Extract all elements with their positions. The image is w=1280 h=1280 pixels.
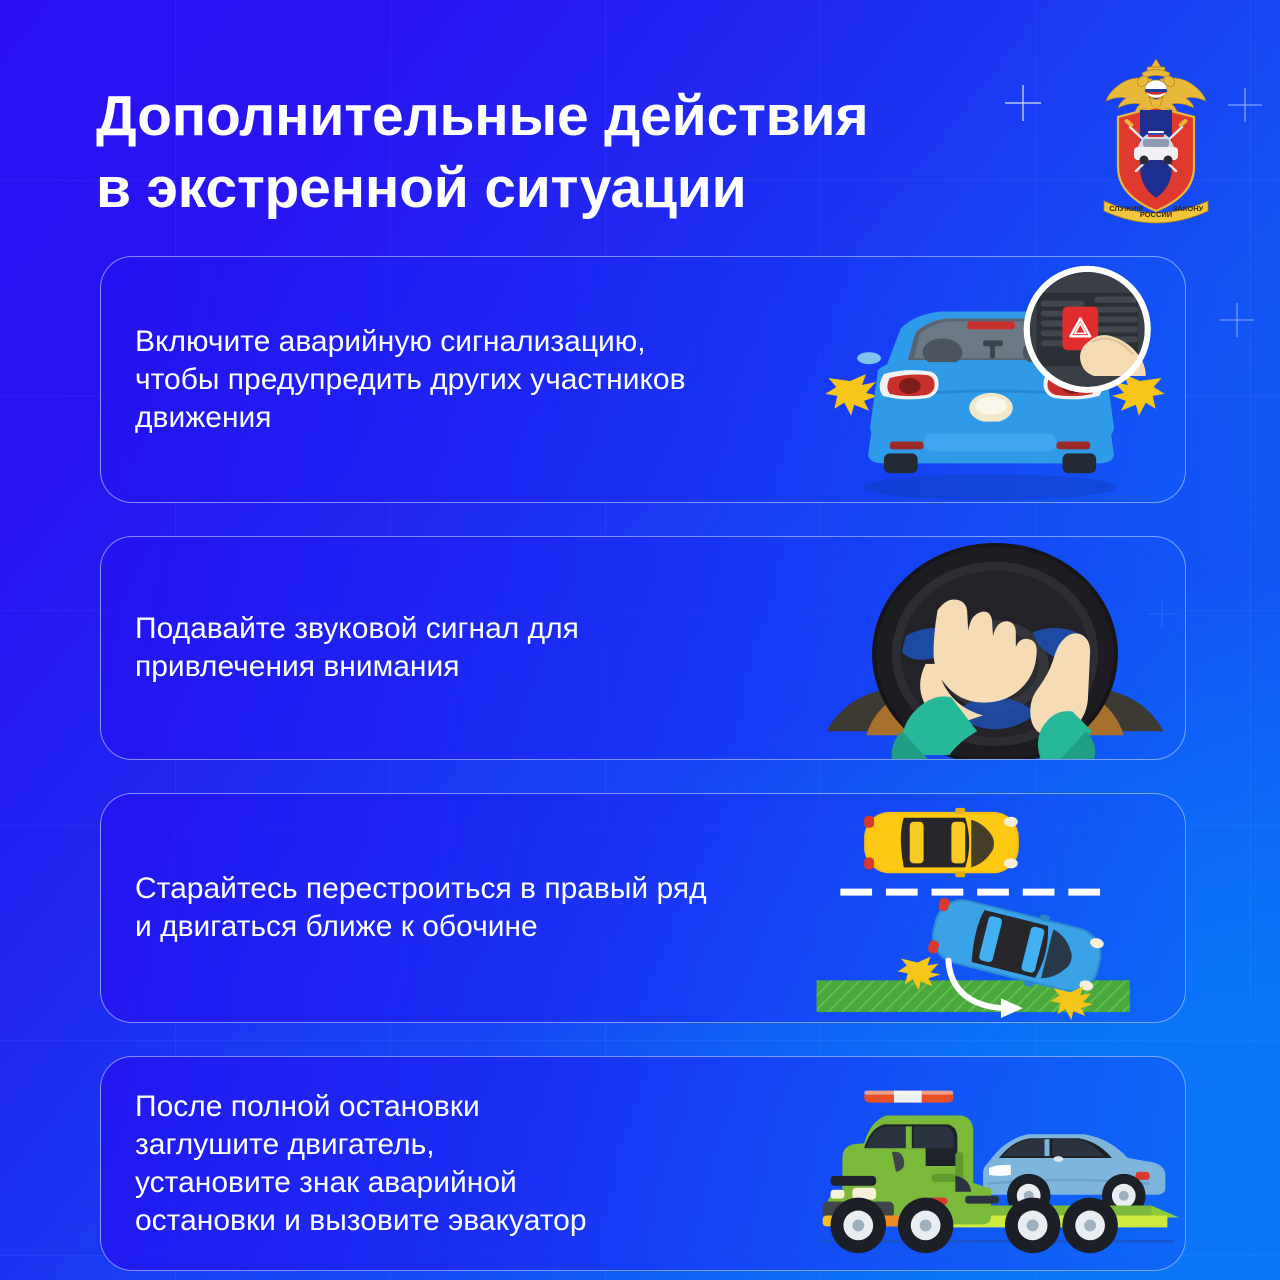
card-horn-signal[interactable]: Подавайте звуковой сигнал для привлечени… <box>100 536 1186 760</box>
blue-sedan-on-flatbed <box>983 1134 1165 1217</box>
orange-white-light-bar <box>864 1091 953 1103</box>
hazard-flash-front <box>898 957 941 991</box>
card-text: Подавайте звуковой сигнал для привлечени… <box>101 610 579 686</box>
card-move-right-lane[interactable]: Старайтесь перестроиться в правый ряд и … <box>100 793 1186 1023</box>
header: Дополнительные действия в экстренной сит… <box>0 0 1280 250</box>
tow-truck-with-car-illustration <box>805 1057 1185 1270</box>
card-text: Включите аварийную сигнализацию, чтобы п… <box>101 323 686 437</box>
right-hand <box>1030 633 1090 736</box>
svg-text:СЛУЖИМ: СЛУЖИМ <box>1109 204 1143 213</box>
left-hand <box>920 600 1037 726</box>
hazard-button-inset-circle <box>1024 266 1151 393</box>
svg-text:ЗАКОНУ: ЗАКОНУ <box>1173 204 1204 213</box>
hazard-flash-left <box>825 374 878 416</box>
blue-car-top-view-tilted <box>925 889 1108 1001</box>
card-text: Старайтесь перестроиться в правый ряд и … <box>101 870 707 946</box>
cards-list: Включите аварийную сигнализацию, чтобы п… <box>100 256 1186 1271</box>
lane-change-to-shoulder-illustration <box>805 794 1185 1022</box>
curved-white-arrow <box>948 961 1022 1018</box>
mvd-russia-emblem-icon: СЛУЖИМ РОССИИ ЗАКОНУ <box>1090 55 1222 225</box>
card-text: После полной остановки заглушите двигате… <box>101 1088 587 1240</box>
card-stop-and-tow[interactable]: После полной остановки заглушите двигате… <box>100 1056 1186 1271</box>
card-hazard-lights[interactable]: Включите аварийную сигнализацию, чтобы п… <box>100 256 1186 503</box>
green-flatbed-tow-truck <box>823 1091 999 1227</box>
car-rear-hazard-lights-illustration <box>805 257 1185 502</box>
hazard-flash-rear <box>1051 986 1094 1020</box>
truck-wheels <box>831 1198 1118 1253</box>
green-shoulder-strip <box>817 980 1130 1012</box>
hazard-flash-right <box>1112 374 1165 416</box>
yellow-car-top-view <box>864 808 1019 877</box>
steering-wheel-horn-illustration <box>805 537 1185 759</box>
svg-text:РОССИИ: РОССИИ <box>1140 210 1172 219</box>
finger-pressing-button <box>1080 335 1146 376</box>
red-triangle-hazard-button <box>1062 307 1098 351</box>
page-title: Дополнительные действия в экстренной сит… <box>96 80 1046 225</box>
